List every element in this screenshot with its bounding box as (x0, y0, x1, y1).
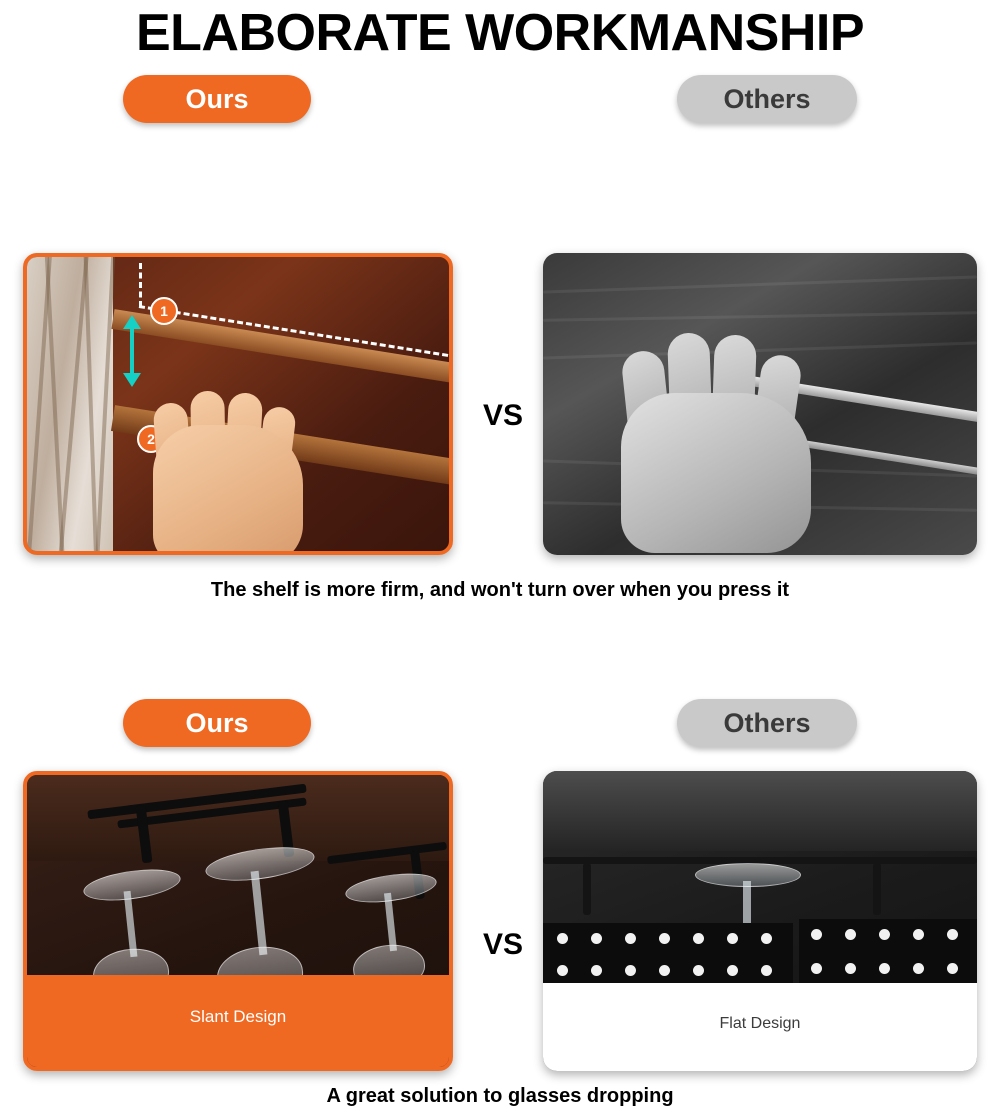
arrow-stem (130, 327, 134, 375)
strip-label-slant: Slant Design (27, 1007, 449, 1027)
photo-ours-firmness: 1 2 (23, 253, 453, 555)
cabinet-underside-others (543, 771, 977, 851)
badge-ours-2: Ours (123, 699, 311, 747)
badge-others-2: Others (677, 699, 857, 747)
rack-bracket-flat-right (873, 863, 881, 915)
dashed-vertical-line (139, 263, 142, 307)
caption-glass-rack: A great solution to glasses dropping (0, 1085, 1000, 1108)
rack-bracket-flat-left (583, 863, 591, 915)
vs-label-1: VS (483, 399, 523, 433)
cabinet-side-panel (27, 257, 113, 551)
badge-row-1: Ours Others (0, 61, 1000, 123)
arrow-down-icon (123, 373, 141, 387)
strip-others-flat: Flat Design (543, 983, 977, 1071)
vs-label-2: VS (483, 928, 523, 962)
page-title: ELABORATE WORKMANSHIP (0, 0, 1000, 61)
hand-pressing-shelf-others (617, 321, 827, 551)
photo-others-firmness (543, 253, 977, 555)
badge-ours-1: Ours (123, 75, 311, 123)
hand-pressing-shelf (147, 377, 317, 555)
strip-label-flat: Flat Design (543, 1015, 977, 1033)
badge-others-1: Others (677, 75, 857, 123)
caption-firmness: The shelf is more firm, and won't turn o… (0, 579, 1000, 602)
comparison-section-firmness: Ours Others 1 2 VS (0, 61, 1000, 123)
strip-ours-slant: Slant Design (27, 975, 449, 1067)
photo-ours-glass-rack: Slant Design (23, 771, 453, 1071)
marker-1-badge: 1 (150, 297, 178, 325)
photo-others-glass-rack: Flat Design (543, 771, 977, 1071)
